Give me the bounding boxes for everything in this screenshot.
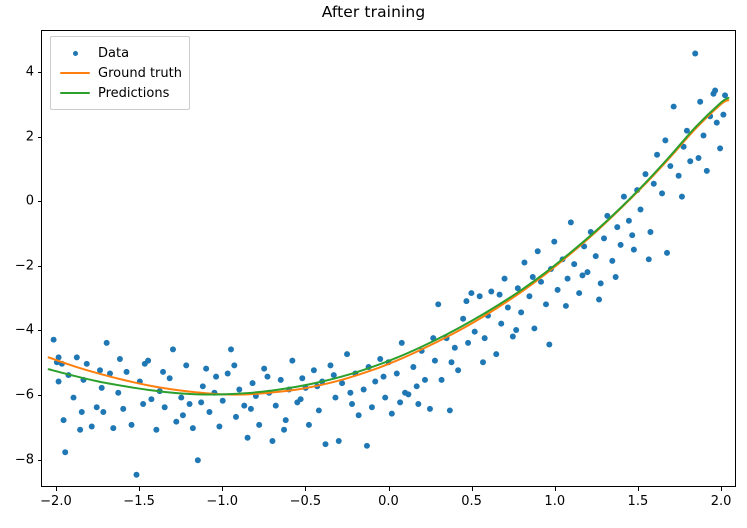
data-point bbox=[100, 409, 106, 415]
data-point bbox=[336, 438, 342, 444]
data-point bbox=[382, 395, 388, 401]
data-point bbox=[256, 422, 262, 428]
data-point bbox=[347, 390, 353, 396]
data-point bbox=[465, 340, 471, 346]
data-point bbox=[89, 424, 95, 430]
data-point bbox=[120, 406, 126, 412]
legend-label: Ground truth bbox=[98, 66, 182, 81]
data-point bbox=[410, 364, 416, 370]
x-tick-mark bbox=[638, 487, 639, 491]
x-tick-mark bbox=[139, 487, 140, 491]
data-point bbox=[206, 409, 212, 415]
data-point bbox=[356, 412, 362, 418]
data-point bbox=[447, 407, 453, 413]
data-point bbox=[298, 396, 304, 402]
data-point bbox=[704, 168, 710, 174]
data-point bbox=[662, 137, 668, 143]
data-point bbox=[273, 403, 279, 409]
data-point bbox=[472, 329, 478, 335]
data-point bbox=[687, 158, 693, 164]
data-point bbox=[684, 128, 690, 134]
data-point bbox=[160, 369, 166, 375]
data-point bbox=[372, 379, 378, 385]
line-series-ground-truth bbox=[49, 100, 729, 394]
data-point bbox=[84, 361, 90, 367]
x-tick-mark bbox=[305, 487, 306, 491]
y-tick-label: −2 bbox=[0, 258, 34, 273]
data-point bbox=[563, 303, 569, 309]
data-point bbox=[531, 325, 537, 331]
data-point bbox=[701, 133, 707, 139]
data-point bbox=[248, 406, 254, 412]
data-point bbox=[568, 219, 574, 225]
scatter-series-data bbox=[51, 51, 728, 478]
data-point bbox=[427, 406, 433, 412]
data-point bbox=[722, 92, 728, 98]
data-point bbox=[596, 297, 602, 303]
data-point bbox=[629, 232, 635, 238]
data-point bbox=[488, 288, 494, 294]
data-point bbox=[203, 366, 209, 372]
data-point bbox=[397, 399, 403, 405]
legend-swatch-line-icon bbox=[58, 66, 92, 80]
y-tick-label: 4 bbox=[0, 64, 34, 79]
data-point bbox=[381, 374, 387, 380]
data-point bbox=[115, 390, 121, 396]
x-tick-label: 1.5 bbox=[628, 494, 649, 509]
y-tick-label: 2 bbox=[0, 129, 34, 144]
x-tick-label: 0.0 bbox=[378, 494, 399, 509]
data-point bbox=[233, 414, 239, 420]
data-point bbox=[530, 274, 536, 280]
data-point bbox=[601, 235, 607, 241]
data-point bbox=[278, 377, 284, 383]
data-point bbox=[140, 401, 146, 407]
data-point bbox=[651, 181, 657, 187]
data-point bbox=[241, 403, 247, 409]
x-tick-label: −1.0 bbox=[206, 494, 238, 509]
data-point bbox=[94, 404, 100, 410]
legend-marker bbox=[60, 72, 90, 74]
data-point bbox=[394, 370, 400, 376]
data-point bbox=[361, 387, 367, 393]
data-point bbox=[551, 239, 557, 245]
data-point bbox=[579, 272, 585, 278]
data-point bbox=[79, 409, 85, 415]
data-point bbox=[183, 362, 189, 368]
data-point bbox=[493, 351, 499, 357]
data-point bbox=[200, 383, 206, 389]
data-point bbox=[167, 375, 173, 381]
data-point bbox=[626, 218, 632, 224]
x-tick-mark bbox=[472, 487, 473, 491]
legend-label: Data bbox=[98, 46, 129, 61]
data-point bbox=[598, 280, 604, 286]
x-tick-mark bbox=[56, 487, 57, 491]
data-point bbox=[613, 274, 619, 280]
data-point bbox=[659, 190, 665, 196]
data-point bbox=[477, 293, 483, 299]
data-point bbox=[117, 356, 123, 362]
x-tick-label: 0.5 bbox=[461, 494, 482, 509]
data-point bbox=[452, 345, 458, 351]
data-point bbox=[142, 361, 148, 367]
data-point bbox=[502, 276, 508, 282]
data-point bbox=[692, 51, 698, 57]
data-point bbox=[213, 374, 219, 380]
data-point bbox=[180, 412, 186, 418]
data-point bbox=[187, 401, 193, 407]
data-point bbox=[148, 396, 154, 402]
data-point bbox=[216, 424, 222, 430]
data-point bbox=[555, 287, 561, 293]
data-point bbox=[327, 362, 333, 368]
chart-legend: DataGround truthPredictions bbox=[50, 36, 190, 110]
data-point bbox=[250, 380, 256, 386]
data-point bbox=[134, 472, 140, 478]
data-point bbox=[99, 385, 105, 391]
data-point bbox=[435, 301, 441, 307]
x-tick-mark bbox=[222, 487, 223, 491]
data-point bbox=[614, 224, 620, 230]
x-tick-mark bbox=[721, 487, 722, 491]
data-point bbox=[480, 359, 486, 365]
data-point bbox=[364, 443, 370, 449]
data-point bbox=[245, 435, 251, 441]
data-point bbox=[584, 269, 590, 275]
data-point bbox=[647, 229, 653, 235]
data-point bbox=[513, 327, 519, 333]
x-tick-label: −0.5 bbox=[290, 494, 322, 509]
data-point bbox=[449, 359, 455, 365]
data-point bbox=[546, 342, 552, 348]
data-point bbox=[369, 404, 375, 410]
legend-marker bbox=[60, 92, 90, 94]
data-point bbox=[173, 419, 179, 425]
matplotlib-figure: After training 420−2−4−6−8 −2.0−1.5−1.0−… bbox=[0, 0, 747, 528]
data-point bbox=[468, 290, 474, 296]
y-tick-label: −6 bbox=[0, 387, 34, 402]
legend-item-ground-truth: Ground truth bbox=[58, 63, 181, 83]
page-title: After training bbox=[0, 3, 747, 21]
data-point bbox=[609, 258, 615, 264]
data-point bbox=[190, 425, 196, 431]
data-point bbox=[283, 417, 289, 423]
data-point bbox=[664, 250, 670, 256]
data-point bbox=[654, 152, 660, 158]
data-point bbox=[455, 367, 461, 373]
data-point bbox=[110, 425, 116, 431]
data-point bbox=[405, 391, 411, 397]
data-point bbox=[696, 155, 702, 161]
data-point bbox=[460, 316, 466, 322]
data-point bbox=[565, 276, 571, 282]
data-point bbox=[646, 256, 652, 262]
legend-label: Predictions bbox=[98, 86, 169, 101]
x-tick-label: −2.0 bbox=[40, 494, 72, 509]
data-point bbox=[344, 351, 350, 357]
data-point bbox=[56, 379, 62, 385]
data-point bbox=[422, 377, 428, 383]
data-point bbox=[236, 387, 242, 393]
data-point bbox=[618, 242, 624, 248]
data-point bbox=[281, 427, 287, 433]
data-point bbox=[671, 104, 677, 110]
data-point bbox=[299, 375, 305, 381]
data-point bbox=[593, 253, 599, 259]
data-point bbox=[642, 171, 648, 177]
data-point bbox=[129, 422, 135, 428]
data-point bbox=[170, 346, 176, 352]
data-point bbox=[306, 422, 312, 428]
data-point bbox=[225, 370, 231, 376]
data-point bbox=[153, 427, 159, 433]
data-point bbox=[195, 457, 201, 463]
data-point bbox=[316, 407, 322, 413]
legend-item-predictions: Predictions bbox=[58, 83, 181, 103]
data-point bbox=[518, 309, 524, 315]
x-tick-mark bbox=[555, 487, 556, 491]
data-point bbox=[720, 112, 726, 118]
data-point bbox=[311, 367, 317, 373]
x-tick-label: 1.0 bbox=[544, 494, 565, 509]
x-tick-label: −1.5 bbox=[123, 494, 155, 509]
data-point bbox=[264, 374, 270, 380]
data-point bbox=[323, 441, 329, 447]
data-point bbox=[463, 298, 469, 304]
data-point bbox=[228, 346, 234, 352]
y-tick-label: 0 bbox=[0, 194, 34, 209]
data-point bbox=[162, 404, 168, 410]
legend-item-data: Data bbox=[58, 43, 181, 63]
data-point bbox=[289, 358, 295, 364]
x-tick-label: 2.0 bbox=[711, 494, 732, 509]
data-point bbox=[482, 335, 488, 341]
data-point bbox=[62, 449, 68, 455]
data-point bbox=[178, 395, 184, 401]
data-point bbox=[498, 321, 504, 327]
data-point bbox=[535, 248, 541, 254]
y-tick-label: −8 bbox=[0, 452, 34, 467]
legend-swatch-dot-icon bbox=[58, 46, 92, 60]
data-point bbox=[332, 395, 338, 401]
data-point bbox=[521, 260, 527, 266]
legend-swatch-line-icon bbox=[58, 86, 92, 100]
legend-marker bbox=[73, 51, 78, 56]
data-point bbox=[377, 356, 383, 362]
data-point bbox=[676, 173, 682, 179]
data-point bbox=[526, 293, 532, 299]
data-point bbox=[510, 333, 516, 339]
data-point bbox=[667, 163, 673, 169]
data-point bbox=[621, 194, 627, 200]
data-point bbox=[439, 377, 445, 383]
data-point bbox=[571, 261, 577, 267]
data-point bbox=[220, 398, 226, 404]
data-point bbox=[631, 247, 637, 253]
data-point bbox=[414, 383, 420, 389]
data-point bbox=[712, 88, 718, 94]
data-point bbox=[231, 362, 237, 368]
data-point bbox=[638, 206, 644, 212]
data-point bbox=[71, 395, 77, 401]
data-point bbox=[717, 145, 723, 151]
line-series-predictions bbox=[49, 98, 729, 395]
data-point bbox=[349, 401, 355, 407]
data-point bbox=[74, 354, 80, 360]
data-point bbox=[679, 194, 685, 200]
data-point bbox=[261, 366, 267, 372]
data-point bbox=[576, 290, 582, 296]
data-point bbox=[77, 427, 83, 433]
x-tick-mark bbox=[389, 487, 390, 491]
data-point bbox=[714, 120, 720, 126]
data-point bbox=[497, 292, 503, 298]
data-point bbox=[51, 337, 57, 343]
data-point bbox=[543, 301, 549, 307]
data-point bbox=[124, 369, 130, 375]
y-tick-label: −4 bbox=[0, 323, 34, 338]
data-point bbox=[505, 305, 511, 311]
data-point bbox=[399, 340, 405, 346]
data-point bbox=[697, 99, 703, 105]
data-point bbox=[198, 399, 204, 405]
data-point bbox=[269, 438, 275, 444]
data-point bbox=[61, 417, 67, 423]
data-point bbox=[415, 401, 421, 407]
data-point bbox=[389, 411, 395, 417]
data-point bbox=[104, 340, 110, 346]
data-point bbox=[432, 358, 438, 364]
